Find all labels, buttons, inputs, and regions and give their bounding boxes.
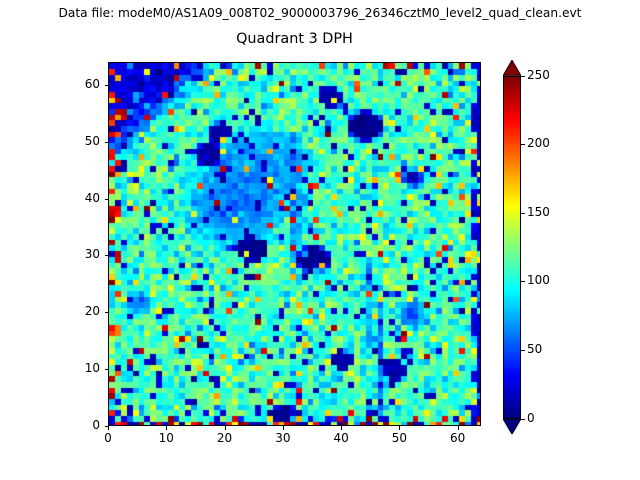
colorbar-gradient-body — [503, 76, 521, 419]
colorbar-gradient — [504, 77, 520, 418]
colorbar-tick — [521, 281, 525, 282]
colorbar-tick-label: 250 — [527, 68, 550, 82]
x-axis-tick — [399, 426, 400, 430]
x-axis-tick-label: 0 — [88, 431, 128, 445]
y-axis-tick-label: 40 — [60, 191, 100, 205]
colorbar: 050100150200250 — [503, 60, 583, 434]
y-axis-tick — [105, 369, 109, 370]
y-axis-tick — [105, 142, 109, 143]
detector-plane-histogram — [109, 63, 481, 426]
x-axis-tick-label: 20 — [205, 431, 245, 445]
y-axis-tick-label: 60 — [60, 77, 100, 91]
y-axis-tick — [105, 312, 109, 313]
x-axis-tick — [166, 426, 167, 430]
y-axis-tick-label: 0 — [60, 418, 100, 432]
colorbar-tick — [521, 419, 525, 420]
x-axis-tick — [108, 426, 109, 430]
colorbar-tick — [521, 350, 525, 351]
colorbar-tick-label: 0 — [527, 411, 535, 425]
y-axis-tick — [105, 426, 109, 427]
page-title: Quadrant 3 DPH — [108, 31, 481, 47]
matplotlib-figure: Data file: modeM0/AS1A09_008T02_90000037… — [0, 0, 640, 480]
heatmap-axes — [108, 62, 481, 426]
colorbar-tick — [521, 76, 525, 77]
colorbar-tick — [521, 144, 525, 145]
y-axis-tick-label: 50 — [60, 134, 100, 148]
colorbar-extend-top-arrow — [503, 60, 521, 76]
y-axis-tick — [105, 255, 109, 256]
y-axis-tick — [105, 199, 109, 200]
colorbar-tick-label: 150 — [527, 205, 550, 219]
colorbar-tick-label: 100 — [527, 273, 550, 287]
y-axis-tick-label: 20 — [60, 304, 100, 318]
colorbar-tick-label: 200 — [527, 136, 550, 150]
x-axis-tick-label: 60 — [438, 431, 478, 445]
x-axis-tick-label: 40 — [321, 431, 361, 445]
x-axis-tick — [458, 426, 459, 430]
data-file-suptitle: Data file: modeM0/AS1A09_008T02_90000037… — [0, 6, 640, 20]
x-axis-tick — [225, 426, 226, 430]
colorbar-extend-bottom-arrow — [503, 419, 521, 435]
x-axis-tick-label: 10 — [146, 431, 186, 445]
colorbar-tick-label: 50 — [527, 342, 542, 356]
y-axis-tick — [105, 85, 109, 86]
x-axis-tick — [283, 426, 284, 430]
y-axis-tick-label: 30 — [60, 247, 100, 261]
x-axis-tick-label: 30 — [263, 431, 303, 445]
y-axis-tick-label: 10 — [60, 361, 100, 375]
x-axis-tick-label: 50 — [379, 431, 419, 445]
x-axis-tick — [341, 426, 342, 430]
colorbar-tick — [521, 213, 525, 214]
